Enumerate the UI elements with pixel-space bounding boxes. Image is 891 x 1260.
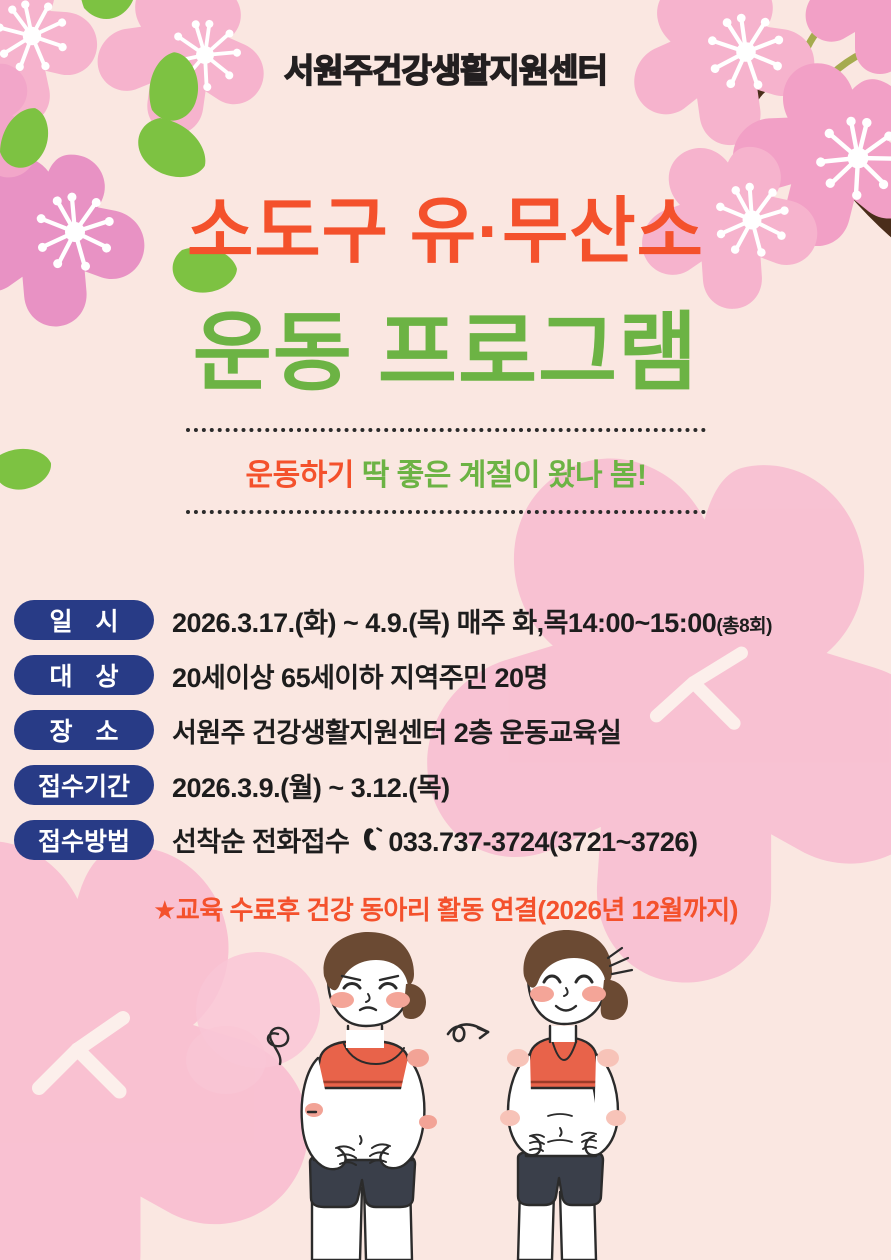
title-line-2: 운동 프로그램 xyxy=(0,282,891,407)
info-row-datetime: 일 시 2026.3.17.(화) ~ 4.9.(목) 매주 화,목14:00~… xyxy=(14,598,891,642)
info-row-target: 대 상 20세이상 65세이하 지역주민 20명 xyxy=(14,653,891,697)
organization-name: 서원주건강생활지원센터 xyxy=(0,44,891,92)
subtitle-text: 운동하기 딱 좋은 계절이 왔나 봄! xyxy=(186,432,706,510)
value-period: 2026.3.9.(월) ~ 3.12.(목) xyxy=(172,766,450,805)
phone-icon xyxy=(362,827,386,860)
value-target: 20세이상 65세이하 지역주민 20명 xyxy=(172,656,548,695)
subtitle-green-part: 딱 좋은 계절이 왔나 봄! xyxy=(354,459,647,492)
note-body: 교육 수료후 건강 동아리 활동 연결(2026년 12월까지) xyxy=(176,895,738,925)
label-datetime: 일 시 xyxy=(14,600,154,640)
transformation-arrow xyxy=(448,1025,488,1041)
label-period: 접수기간 xyxy=(14,765,154,805)
before-after-illustration xyxy=(252,930,672,1260)
title-line-1: 소도구 유·무산소 xyxy=(0,172,891,277)
value-method-phone: 033.737-3724(3721~3726) xyxy=(388,827,697,857)
label-target: 대 상 xyxy=(14,655,154,695)
subtitle-block: 운동하기 딱 좋은 계절이 왔나 봄! xyxy=(186,428,706,514)
label-location: 장 소 xyxy=(14,710,154,750)
value-method: 선착순 전화접수 033.737-3724(3721~3726) xyxy=(172,820,697,860)
info-row-location: 장 소 서원주 건강생활지원센터 2층 운동교육실 xyxy=(14,708,891,752)
star-icon: ★ xyxy=(153,895,176,925)
dotted-divider-bottom xyxy=(186,510,706,514)
info-table: 일 시 2026.3.17.(화) ~ 4.9.(목) 매주 화,목14:00~… xyxy=(14,598,891,873)
figure-after xyxy=(500,930,632,1260)
poster-canvas: 서원주건강생활지원센터 소도구 유·무산소 운동 프로그램 운동하기 딱 좋은 … xyxy=(0,0,891,1260)
value-datetime-count: (총8회) xyxy=(716,616,772,637)
info-row-method: 접수방법 선착순 전화접수 033.737-3724(3721~3726) xyxy=(14,818,891,862)
label-method: 접수방법 xyxy=(14,820,154,860)
figure-before xyxy=(268,932,437,1260)
info-row-period: 접수기간 2026.3.9.(월) ~ 3.12.(목) xyxy=(14,763,891,807)
note-text: ★교육 수료후 건강 동아리 활동 연결(2026년 12월까지) xyxy=(0,890,891,927)
value-location: 서원주 건강생활지원센터 2층 운동교육실 xyxy=(172,711,621,750)
value-datetime: 2026.3.17.(화) ~ 4.9.(목) 매주 화,목14:00~15:0… xyxy=(172,601,772,640)
value-method-prefix: 선착순 전화접수 xyxy=(172,827,349,857)
value-datetime-main: 2026.3.17.(화) ~ 4.9.(목) 매주 화,목14:00~15:0… xyxy=(172,608,716,638)
subtitle-orange-part: 운동하기 xyxy=(246,459,354,492)
